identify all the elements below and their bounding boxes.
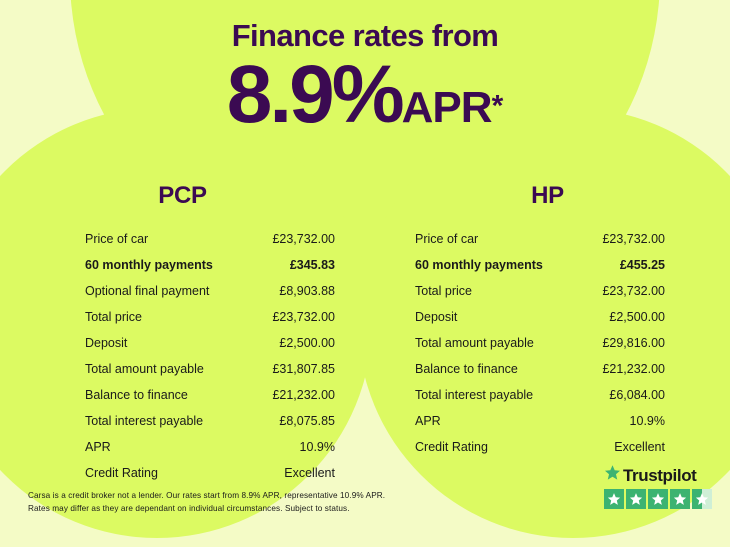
panel-hp-title: HP — [365, 182, 730, 210]
row-label: Optional final payment — [85, 278, 209, 304]
row-value: £29,816.00 — [602, 330, 665, 356]
row-label: Balance to finance — [415, 356, 518, 382]
hero-rate: 8.9%APR* — [0, 54, 730, 136]
trustpilot-rating[interactable]: Trustpilot — [604, 464, 716, 509]
rating-star-half-icon — [692, 489, 712, 509]
panel-pcp-title: PCP — [0, 182, 365, 210]
table-row: Total price £23,732.00 — [85, 304, 335, 330]
trustpilot-wordmark: Trustpilot — [623, 467, 696, 484]
row-label: Total amount payable — [85, 356, 204, 382]
hero-rate-apr-label: APR — [402, 83, 492, 132]
table-row: Deposit £2,500.00 — [85, 330, 335, 356]
table-row: 60 monthly payments £345.83 — [85, 252, 335, 278]
row-label: Total interest payable — [415, 382, 533, 408]
hero-rate-value: 8.9% — [227, 49, 402, 140]
row-value: £23,732.00 — [272, 304, 335, 330]
table-row: APR 10.9% — [415, 408, 665, 434]
row-value: £23,732.00 — [602, 226, 665, 252]
row-value: 10.9% — [300, 434, 335, 460]
rating-star-icon — [648, 489, 668, 509]
row-label: Deposit — [85, 330, 127, 356]
row-label: Deposit — [415, 304, 457, 330]
row-value: £345.83 — [290, 252, 335, 278]
row-label: 60 monthly payments — [85, 252, 213, 278]
table-row: APR 10.9% — [85, 434, 335, 460]
row-label: Credit Rating — [85, 460, 158, 486]
disclaimer-line-2: Rates may differ as they are dependant o… — [28, 502, 385, 515]
panel-hp: HP Price of car £23,732.00 60 monthly pa… — [365, 182, 730, 486]
table-row: Total amount payable £31,807.85 — [85, 356, 335, 382]
panel-pcp-table: Price of car £23,732.00 60 monthly payme… — [85, 226, 335, 486]
rating-star-icon — [670, 489, 690, 509]
table-row: Optional final payment £8,903.88 — [85, 278, 335, 304]
trustpilot-logo: Trustpilot — [604, 464, 716, 486]
legal-disclaimer: Carsa is a credit broker not a lender. O… — [28, 489, 385, 515]
disclaimer-line-1: Carsa is a credit broker not a lender. O… — [28, 489, 385, 502]
table-row: Total interest payable £6,084.00 — [415, 382, 665, 408]
rating-star-icon — [626, 489, 646, 509]
table-row: Credit Rating Excellent — [85, 460, 335, 486]
row-label: Price of car — [85, 226, 148, 252]
finance-comparison: PCP Price of car £23,732.00 60 monthly p… — [0, 182, 730, 486]
row-label: Total price — [415, 278, 472, 304]
table-row: 60 monthly payments £455.25 — [415, 252, 665, 278]
row-label: 60 monthly payments — [415, 252, 543, 278]
row-value: £23,732.00 — [272, 226, 335, 252]
hero-rate-asterisk: * — [492, 90, 504, 123]
row-value: £23,732.00 — [602, 278, 665, 304]
table-row: Total price £23,732.00 — [415, 278, 665, 304]
row-value: £2,500.00 — [279, 330, 335, 356]
panel-pcp: PCP Price of car £23,732.00 60 monthly p… — [0, 182, 365, 486]
table-row: Total interest payable £8,075.85 — [85, 408, 335, 434]
row-value: 10.9% — [630, 408, 665, 434]
table-row: Balance to finance £21,232.00 — [415, 356, 665, 382]
table-row: Credit Rating Excellent — [415, 434, 665, 460]
row-label: APR — [85, 434, 111, 460]
row-value: Excellent — [614, 434, 665, 460]
table-row: Price of car £23,732.00 — [415, 226, 665, 252]
row-value: £31,807.85 — [272, 356, 335, 382]
row-value: £21,232.00 — [272, 382, 335, 408]
table-row: Balance to finance £21,232.00 — [85, 382, 335, 408]
row-value: £21,232.00 — [602, 356, 665, 382]
panel-hp-table: Price of car £23,732.00 60 monthly payme… — [415, 226, 665, 460]
promo-banner: Finance rates from 8.9%APR* PCP Price of… — [0, 0, 730, 547]
table-row: Deposit £2,500.00 — [415, 304, 665, 330]
row-value: £2,500.00 — [609, 304, 665, 330]
row-value: £8,075.85 — [279, 408, 335, 434]
rating-star-icon — [604, 489, 624, 509]
table-row: Price of car £23,732.00 — [85, 226, 335, 252]
row-label: Total interest payable — [85, 408, 203, 434]
row-value: £455.25 — [620, 252, 665, 278]
row-label: Total price — [85, 304, 142, 330]
trustpilot-star-row — [604, 489, 716, 509]
row-label: Total amount payable — [415, 330, 534, 356]
trustpilot-star-icon — [604, 464, 621, 486]
row-value: £8,903.88 — [279, 278, 335, 304]
row-label: Price of car — [415, 226, 478, 252]
row-label: Balance to finance — [85, 382, 188, 408]
row-label: Credit Rating — [415, 434, 488, 460]
row-value: Excellent — [284, 460, 335, 486]
row-label: APR — [415, 408, 441, 434]
table-row: Total amount payable £29,816.00 — [415, 330, 665, 356]
row-value: £6,084.00 — [609, 382, 665, 408]
